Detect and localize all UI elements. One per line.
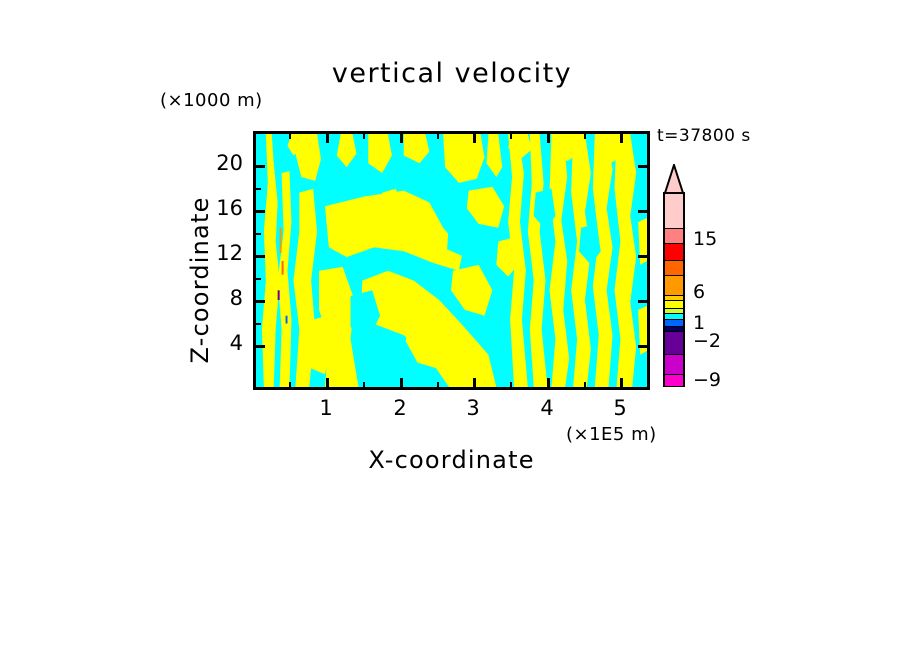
x-tick-top-minor bbox=[363, 131, 365, 139]
colorbar-band bbox=[665, 331, 683, 355]
x-tick-top-minor bbox=[437, 131, 439, 139]
y-axis-tick-label: 12 bbox=[205, 241, 243, 265]
plot-frame bbox=[253, 131, 650, 390]
y-axis-tick-label: 4 bbox=[205, 331, 243, 355]
x-axis-tick-label: 4 bbox=[532, 396, 562, 420]
y-tick-left-minor bbox=[253, 278, 261, 280]
colorbar-label: −2 bbox=[693, 330, 721, 352]
y-axis-tick-label: 20 bbox=[205, 151, 243, 175]
y-tick-right-8 bbox=[638, 300, 650, 303]
x-axis-tick-label: 3 bbox=[458, 396, 488, 420]
x-tick-bottom-1 bbox=[326, 378, 329, 390]
x-axis-tick-label: 2 bbox=[385, 396, 415, 420]
colorbar-label: 6 bbox=[693, 281, 705, 303]
colorbar-band bbox=[665, 275, 683, 295]
x-tick-top-minor bbox=[510, 131, 512, 139]
x-tick-bottom-minor bbox=[363, 382, 365, 390]
x-axis-tick-label: 5 bbox=[605, 396, 635, 420]
plot-area bbox=[253, 131, 650, 390]
colorbar-band bbox=[665, 374, 683, 386]
y-tick-left-minor bbox=[253, 188, 261, 190]
colorbar bbox=[663, 192, 685, 387]
x-tick-bottom-5 bbox=[620, 378, 623, 390]
y-tick-left-20 bbox=[253, 165, 265, 168]
colorbar-band bbox=[665, 260, 683, 276]
x-tick-top-4 bbox=[547, 131, 550, 143]
y-tick-left-4 bbox=[253, 345, 265, 348]
x-tick-bottom-4 bbox=[547, 378, 550, 390]
y-tick-right-20 bbox=[638, 165, 650, 168]
x-tick-bottom-minor bbox=[584, 382, 586, 390]
y-tick-left-minor bbox=[253, 323, 261, 325]
page-title: vertical velocity bbox=[0, 58, 904, 89]
x-tick-bottom-3 bbox=[473, 378, 476, 390]
y-tick-left-16 bbox=[253, 210, 265, 213]
colorbar-overflow-arrow bbox=[663, 164, 685, 194]
x-tick-bottom-minor bbox=[289, 382, 291, 390]
x-tick-top-minor bbox=[289, 131, 291, 139]
colorbar-label: 15 bbox=[693, 228, 717, 250]
y-tick-left-8 bbox=[253, 300, 265, 303]
x-tick-top-2 bbox=[400, 131, 403, 143]
contour-field bbox=[256, 134, 647, 387]
y-tick-right-4 bbox=[638, 345, 650, 348]
x-tick-top-5 bbox=[620, 131, 623, 143]
y-tick-left-12 bbox=[253, 255, 265, 258]
x-tick-bottom-2 bbox=[400, 378, 403, 390]
figure-canvas: vertical velocity (×1000 m) t=37800 s Z-… bbox=[0, 0, 904, 654]
y-axis-tick-label: 8 bbox=[205, 286, 243, 310]
y-tick-right-16 bbox=[638, 210, 650, 213]
colorbar-band bbox=[665, 228, 683, 244]
y-axis-unit-label: (×1000 m) bbox=[160, 90, 263, 111]
y-tick-right-12 bbox=[638, 255, 650, 258]
colorbar-band bbox=[665, 354, 683, 374]
y-axis-tick-label: 16 bbox=[205, 196, 243, 220]
x-axis-title: X-coordinate bbox=[253, 446, 650, 474]
y-tick-left-minor bbox=[253, 233, 261, 235]
x-tick-top-minor bbox=[584, 131, 586, 139]
colorbar-band bbox=[665, 194, 683, 228]
colorbar-band bbox=[665, 243, 683, 261]
x-tick-bottom-minor bbox=[437, 382, 439, 390]
x-axis-tick-label: 1 bbox=[311, 396, 341, 420]
x-axis-unit-label: (×1E5 m) bbox=[566, 424, 657, 445]
time-annotation: t=37800 s bbox=[657, 126, 751, 146]
x-tick-bottom-minor bbox=[510, 382, 512, 390]
x-tick-top-3 bbox=[473, 131, 476, 143]
colorbar-label: −9 bbox=[693, 369, 721, 391]
x-tick-top-1 bbox=[326, 131, 329, 143]
